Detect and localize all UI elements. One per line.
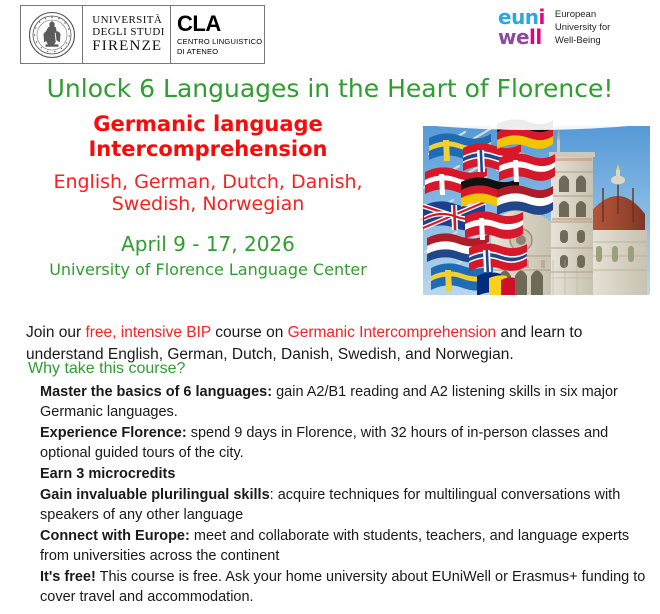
course-venue: University of Florence Language Center xyxy=(8,260,408,279)
course-title-line-1: Germanic language xyxy=(8,112,408,137)
benefit-label: Master the basics of 6 languages: xyxy=(40,384,272,400)
euniwell-wordmark: euni well xyxy=(498,8,545,47)
course-title-line-2: Intercomprehension xyxy=(8,137,408,162)
cla-subtitle-line-2: DI ATENEO xyxy=(177,47,262,56)
benefits-list: Master the basics of 6 languages: gain A… xyxy=(40,382,648,608)
list-item: Experience Florence: spend 9 days in Flo… xyxy=(40,423,648,463)
intro-highlight-germanic-intercomprehension: Germanic Intercomprehension xyxy=(288,324,497,341)
unifi-line-3: FIRENZE xyxy=(92,38,165,55)
list-item: Earn 3 microcredits xyxy=(40,464,648,484)
cla-logo-cell: CLA CENTRO LINGUISTICO DI ATENEO xyxy=(171,6,264,63)
euniwell-mark-we: we xyxy=(498,25,529,49)
euniwell-tagline-line-2: University for xyxy=(555,21,610,34)
list-item: It's free! This course is free. Ask your… xyxy=(40,567,648,607)
benefit-label: Gain invaluable plurilingual skills xyxy=(40,487,270,503)
cla-acronym: CLA xyxy=(177,13,262,35)
list-item: Gain invaluable plurilingual skills: acq… xyxy=(40,485,648,525)
intro-seg-3: course on xyxy=(211,324,288,341)
list-item: Master the basics of 6 languages: gain A… xyxy=(40,382,648,422)
course-title-block: Germanic language Intercomprehension Eng… xyxy=(8,112,408,279)
page-headline: Unlock 6 Languages in the Heart of Flore… xyxy=(0,74,660,103)
unifi-line-1: UNIVERSITÀ xyxy=(92,14,165,26)
why-take-this-course-heading: Why take this course? xyxy=(28,360,185,378)
euniwell-mark-ll: ll xyxy=(529,25,542,49)
institution-logo-bar: UNIVERSITÀ DEGLI STUDI FIRENZE CLA CENTR… xyxy=(20,5,265,64)
florence-duomo-flags-photo xyxy=(413,110,650,295)
unifi-wordmark-cell: UNIVERSITÀ DEGLI STUDI FIRENZE xyxy=(83,6,171,63)
euniwell-tagline: European University for Well-Being xyxy=(555,8,610,47)
course-dates: April 9 - 17, 2026 xyxy=(8,232,408,256)
intro-seg-1: Join our xyxy=(26,324,85,341)
intro-highlight-free-bip: free, intensive BIP xyxy=(85,324,211,341)
course-languages-line-2: Swedish, Norwegian xyxy=(8,193,408,216)
benefit-label: Connect with Europe: xyxy=(40,528,190,544)
list-item: Connect with Europe: meet and collaborat… xyxy=(40,526,648,566)
benefit-text: This course is free. Ask your home unive… xyxy=(40,569,645,605)
course-languages-line-1: English, German, Dutch, Danish, xyxy=(8,171,408,194)
cla-subtitle-line-1: CENTRO LINGUISTICO xyxy=(177,37,262,46)
intro-paragraph: Join our free, intensive BIP course on G… xyxy=(26,322,644,366)
unifi-line-2: DEGLI STUDI xyxy=(92,26,165,38)
university-of-florence-seal-icon xyxy=(28,11,76,59)
euniwell-logo: euni well European University for Well-B… xyxy=(498,8,610,47)
benefit-label: Experience Florence: xyxy=(40,425,187,441)
benefit-label: Earn 3 microcredits xyxy=(40,466,175,482)
euniwell-tagline-line-1: European xyxy=(555,8,610,21)
benefit-label: It's free! xyxy=(40,569,96,585)
university-seal-cell xyxy=(21,6,83,63)
euniwell-tagline-line-3: Well-Being xyxy=(555,34,610,47)
